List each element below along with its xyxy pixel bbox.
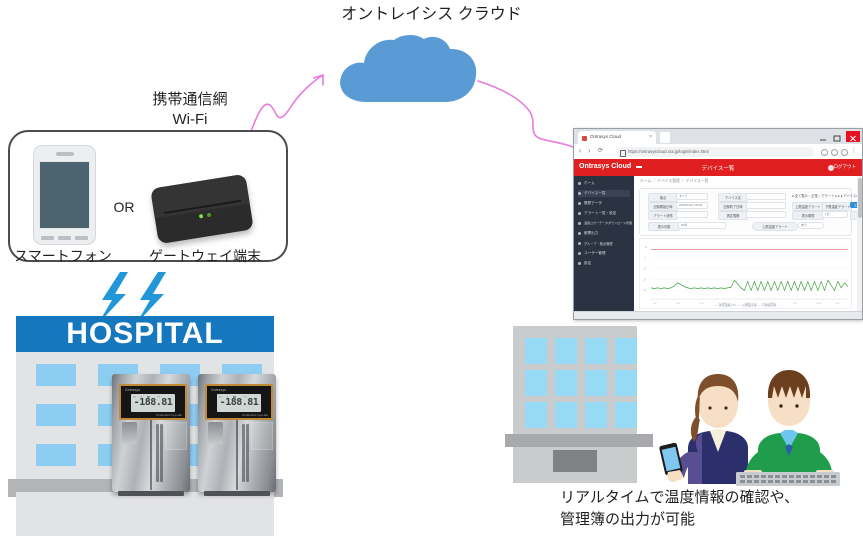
- keyboard-icon: [736, 472, 840, 486]
- fridge-model-text: Ondtrolled Cryo-lab: [156, 413, 182, 417]
- app-page-title: デバイス一覧: [574, 164, 862, 172]
- filter-extra-input[interactable]: あり: [798, 222, 824, 229]
- bullet-icon: [578, 232, 581, 235]
- fridge-model-text: Ondtrolled Cryo-lab: [242, 413, 268, 417]
- filter-panel: 拠点 すべて デバイス名 ● 全て表示 ○ 正常 ○ アラート ● ● ● デバ…: [639, 188, 852, 236]
- temperature-chart: 100 -10-20 -30 04/0104/02 04/0304/04 04/…: [639, 238, 852, 309]
- profile-icon[interactable]: [841, 149, 848, 156]
- filter-input-7[interactable]: [746, 211, 786, 218]
- svg-text:0: 0: [645, 258, 647, 260]
- reload-icon[interactable]: ⟳: [598, 148, 603, 155]
- sidebar-item-label: 温度ロガーデータダウンロード管理: [584, 221, 632, 225]
- filter-input-3[interactable]: [746, 202, 786, 209]
- bullet-icon: [578, 242, 581, 245]
- filter-input-6[interactable]: [676, 211, 708, 218]
- fridge-temperature-reading: -188.81: [217, 398, 261, 408]
- sidebar-item-label: デバイス一覧: [584, 191, 605, 196]
- cloud-title: オントレイシス クラウド: [0, 4, 863, 26]
- sidebar-item-0[interactable]: ホーム: [578, 180, 630, 187]
- filter-label-9: 表示件数: [648, 222, 680, 231]
- filter-label-1: デバイス名: [718, 193, 748, 202]
- refrigerator-unit: Ontrasys SU ℃ ▓▓ * ※ ↑↓ -188.81 Ondtroll…: [198, 374, 276, 492]
- people-illustration: [640, 352, 850, 486]
- forward-icon[interactable]: ›: [588, 148, 590, 155]
- filter-input-9[interactable]: 50件: [678, 222, 726, 229]
- browser-tabbar: Ontrasys Cloud ×: [574, 129, 862, 144]
- sidebar-item-2[interactable]: 履歴データ: [578, 200, 630, 207]
- close-tab-icon[interactable]: ×: [649, 134, 652, 140]
- office-building: [505, 326, 653, 486]
- bookmark-icon[interactable]: [821, 149, 828, 156]
- browser-statusbar: [574, 311, 862, 319]
- bullet-icon: [578, 182, 581, 185]
- caption-text: リアルタイムで温度情報の確認や、 管理簿の出力が可能: [560, 487, 860, 531]
- filter-input-0[interactable]: すべて: [676, 193, 708, 200]
- svg-text:-30: -30: [643, 290, 647, 292]
- bullet-icon: [578, 252, 581, 255]
- sidebar-item-label: アラート一覧・設定: [584, 211, 616, 216]
- hospital-sign: HOSPITAL: [16, 316, 274, 352]
- gateway-label: ゲートウェイ端末: [135, 247, 275, 266]
- chart-legend: — 測定温度(℃) ---- 上限設定値 — 下限設定値: [640, 303, 851, 307]
- hospital-sign-label: HOSPITAL: [16, 316, 274, 352]
- filter-value-9: 50件: [681, 223, 687, 227]
- fridge-brand: Ontrasys: [211, 388, 226, 392]
- extensions-icon[interactable]: [831, 149, 838, 156]
- fridge-temperature-reading: -188.81: [131, 398, 175, 408]
- browser-tab-title: Ontrasys Cloud: [590, 134, 621, 139]
- browser-urlbar: ‹ › ⟳ https://ontrasyscloud.xxx.jp/login…: [574, 144, 862, 160]
- cloud-icon: [333, 32, 481, 104]
- chart-plot: 100 -10-20 -30 04/0104/02 04/0304/04 04/…: [640, 239, 851, 308]
- new-tab-button[interactable]: [660, 132, 670, 143]
- filter-label-5: 下限温度アラート: [822, 202, 852, 211]
- hospital-building: HOSPITAL Ontrasys SU ℃ ▓▓: [8, 316, 283, 536]
- browser-window[interactable]: Ontrasys Cloud × ‹ › ⟳ https://ontrasysc…: [573, 128, 863, 320]
- filter-input-1[interactable]: [746, 193, 786, 200]
- filter-label-3: 記録終了日時: [718, 202, 748, 211]
- scrollbar-thumb[interactable]: [858, 178, 862, 218]
- filter-label-2: 記録開始日時: [648, 202, 678, 211]
- bullet-icon: [578, 212, 581, 215]
- smartphone-illustration: [33, 145, 96, 245]
- bullet-icon: [578, 222, 581, 225]
- filter-input-2[interactable]: 2020/04/01 00:00: [676, 202, 708, 209]
- filter-extra-label: 上限温度アラート: [752, 222, 798, 231]
- filter-label-0: 拠点: [648, 193, 678, 202]
- bullet-icon: [578, 192, 581, 195]
- svg-text:10: 10: [645, 247, 648, 249]
- filter-value-0: すべて: [679, 194, 688, 198]
- person-woman: [659, 374, 748, 484]
- back-icon[interactable]: ‹: [579, 148, 581, 155]
- minimize-button[interactable]: [816, 131, 830, 142]
- sidebar-item-label: 履歴データ: [584, 201, 602, 206]
- filter-label-4: 上限温度アラート: [792, 202, 824, 211]
- svg-text:-10: -10: [643, 268, 647, 270]
- app-header: Ontrasys Cloud デバイス一覧 ログアウト: [574, 159, 862, 176]
- filter-label-6: アラート状態: [648, 211, 678, 220]
- or-label: OR: [104, 198, 144, 217]
- filter-value-2: 2020/04/01 00:00: [679, 203, 702, 207]
- filter-label-8: 表示期間: [792, 211, 824, 220]
- address-bar[interactable]: https://ontrasyscloud.xxx.jp/login/index…: [616, 147, 814, 157]
- refrigerator-unit: Ontrasys SU ℃ ▓▓ * ※ ↑↓ -188.81 Ondtroll…: [112, 374, 190, 492]
- sidebar-item-label: グループ・拠点管理: [584, 241, 613, 246]
- smartphone-label: スマートフォン: [8, 247, 118, 266]
- filter-extra-value: あり: [801, 223, 807, 227]
- filter-input-8[interactable]: 1日: [822, 211, 848, 218]
- sidebar-item-6[interactable]: グループ・拠点管理: [578, 240, 630, 247]
- filter-button-0[interactable]: エクスポート: [850, 202, 857, 208]
- bullet-icon: [578, 262, 581, 265]
- fridge-brand: Ontrasys: [125, 388, 140, 392]
- sidebar-item-1[interactable]: デバイス一覧: [578, 190, 630, 197]
- browser-menu-icon[interactable]: ⋮: [851, 148, 857, 154]
- maximize-button[interactable]: [830, 131, 844, 142]
- sidebar-item-4[interactable]: 温度ロガーデータダウンロード管理: [578, 220, 630, 227]
- lock-icon: [620, 150, 626, 157]
- browser-tab[interactable]: Ontrasys Cloud ×: [578, 131, 656, 144]
- gateway-illustration: [148, 175, 256, 247]
- app-sidebar: ホーム デバイス一覧 履歴データ アラート一覧・設定 温度ロガーデータダウンロー…: [574, 176, 634, 312]
- bullet-icon: [578, 202, 581, 205]
- sidebar-item-label: 帳票出力: [584, 231, 598, 236]
- sidebar-item-8[interactable]: 設定: [578, 260, 630, 267]
- person-man: [736, 370, 840, 486]
- favicon: [582, 136, 587, 141]
- logout-link[interactable]: ログアウト: [834, 164, 857, 170]
- filter-label-10: 最終更新日時: [850, 211, 857, 220]
- sidebar-item-7[interactable]: ユーザー管理: [578, 250, 630, 257]
- sidebar-item-label: 設定: [584, 261, 591, 266]
- filter-radios[interactable]: ● 全て表示 ○ 正常 ○ アラート ● ● ● デバイスのみ ● センサ: [792, 193, 857, 198]
- scrollbar[interactable]: [857, 176, 862, 312]
- diagram-canvas: オントレイシス クラウド 携帯通信網 Wi-Fi OR スマートフォン ゲートウ…: [0, 0, 863, 536]
- svg-text:-20: -20: [643, 279, 647, 281]
- address-bar-text: https://ontrasyscloud.xxx.jp/login/index…: [628, 149, 709, 154]
- sidebar-item-label: ユーザー管理: [584, 251, 606, 256]
- close-window-button[interactable]: [846, 131, 860, 142]
- filter-label-7: 測定間隔: [718, 211, 748, 220]
- filter-button-label-0: エクスポート: [850, 203, 857, 207]
- network-label: 携帯通信網 Wi-Fi: [110, 90, 270, 131]
- sidebar-item-5[interactable]: 帳票出力: [578, 230, 630, 237]
- app-content: ホーム ／ デバイス管理 ／ デバイス一覧 拠点 すべて デバイス名 ● 全て表…: [634, 176, 857, 312]
- breadcrumb: ホーム ／ デバイス管理 ／ デバイス一覧: [640, 179, 708, 184]
- sidebar-item-label: ホーム: [584, 181, 595, 186]
- filter-value-8: 1日: [825, 212, 830, 216]
- sidebar-item-3[interactable]: アラート一覧・設定: [578, 210, 630, 217]
